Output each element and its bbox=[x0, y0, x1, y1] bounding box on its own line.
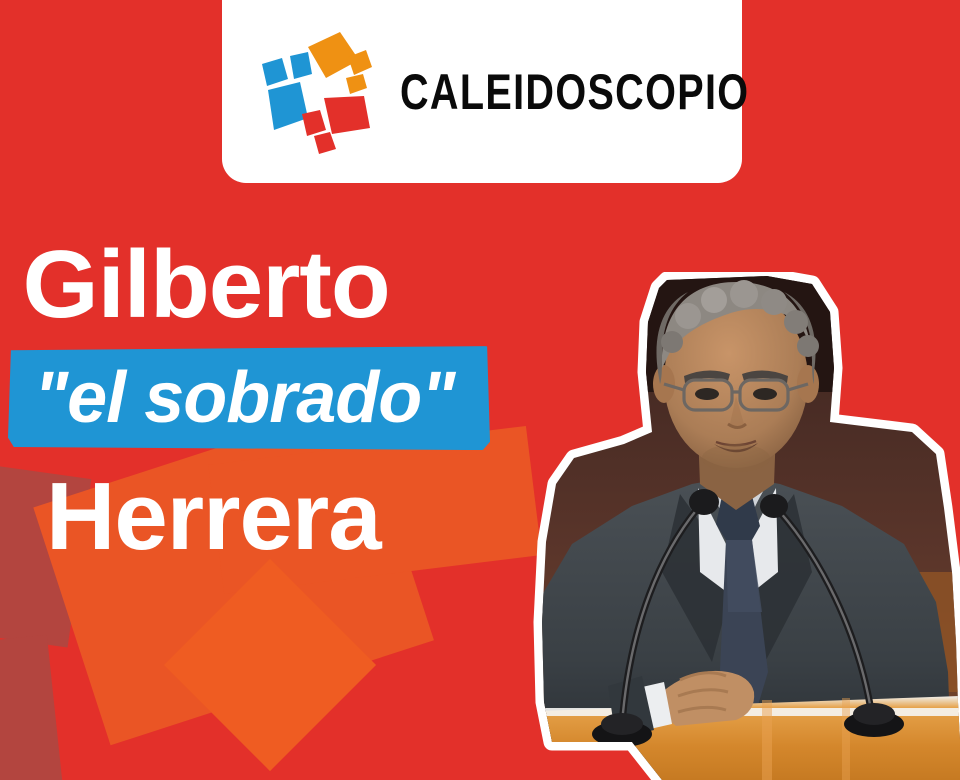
last-name-text: Herrera bbox=[0, 470, 520, 564]
decorative-shape-muted-left-lower bbox=[0, 635, 63, 780]
first-name-text: Gilberto bbox=[0, 238, 530, 332]
kaleidoscope-logo-icon bbox=[252, 30, 376, 154]
poster-canvas: CALEIDOSCOPIO Gilberto "el sobrado" Herr… bbox=[0, 0, 960, 780]
decorative-shape-orange-diamond bbox=[164, 559, 376, 771]
portrait-cutout bbox=[512, 272, 960, 780]
brand-name: CALEIDOSCOPIO bbox=[400, 62, 749, 120]
headline-block: Gilberto "el sobrado" Herrera bbox=[0, 238, 520, 564]
nickname-highlight: "el sobrado" bbox=[8, 346, 490, 450]
nickname-text: "el sobrado" bbox=[8, 346, 490, 450]
brand-card: CALEIDOSCOPIO bbox=[222, 0, 742, 183]
